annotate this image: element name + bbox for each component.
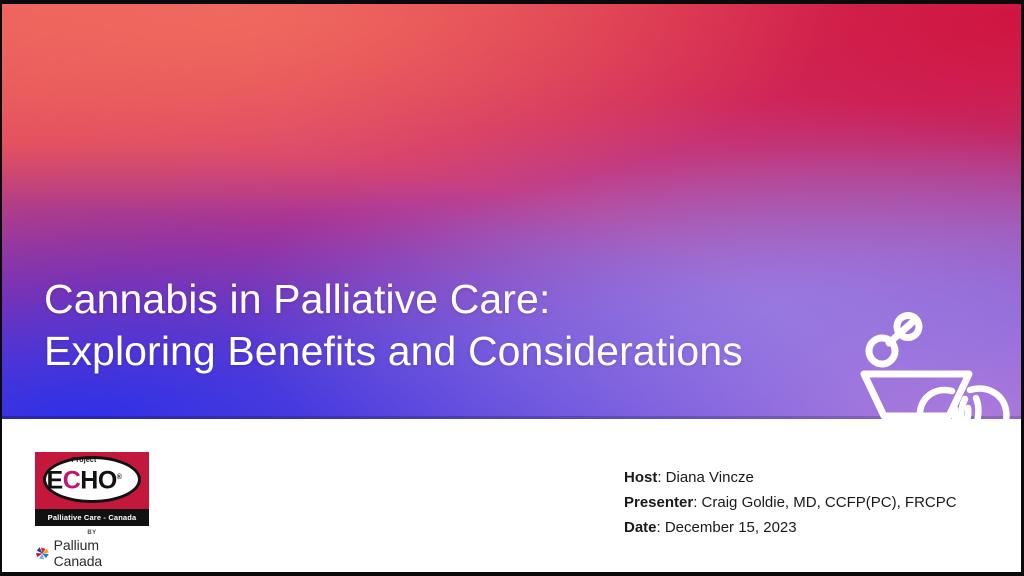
page-title: Cannabis in Palliative Care: Exploring B… bbox=[44, 273, 743, 377]
presenter-line: Presenter: Craig Goldie, MD, CCFP(PC), F… bbox=[624, 490, 957, 515]
date-line: Date: December 15, 2023 bbox=[624, 515, 957, 540]
letterbox-band-bottom bbox=[0, 572, 1024, 576]
echo-logo-program-bar: Palliative Care - Canada bbox=[35, 509, 149, 526]
session-details: Host: Diana Vincze Presenter: Craig Gold… bbox=[624, 465, 957, 540]
footer-bar: Project ECHO® Palliative Care - Canada B… bbox=[0, 419, 1024, 572]
echo-logo-by-word: BY bbox=[35, 530, 149, 536]
hero-gradient-banner: Cannabis in Palliative Care: Exploring B… bbox=[0, 4, 1024, 419]
host-value: : Diana Vincze bbox=[657, 469, 753, 486]
presenter-label: Presenter bbox=[624, 494, 693, 511]
date-label: Date bbox=[624, 519, 657, 536]
echo-logo-wordmark: ECHO® bbox=[35, 464, 133, 494]
echo-letters-ho: HO bbox=[80, 466, 117, 494]
pallium-canada-lockup: Pallium Canada bbox=[35, 537, 149, 569]
letterbox-band-left bbox=[0, 0, 2, 576]
letterbox-band-top bbox=[0, 0, 1024, 4]
registered-trademark-icon: ® bbox=[117, 474, 122, 481]
title-slide: Cannabis in Palliative Care: Exploring B… bbox=[0, 0, 1024, 576]
pallium-canada-name: Pallium Canada bbox=[54, 537, 149, 569]
date-value: : December 15, 2023 bbox=[657, 519, 797, 536]
host-label: Host bbox=[624, 469, 657, 486]
pallium-pinwheel-icon bbox=[35, 546, 50, 561]
echo-logo-project-word: Project bbox=[35, 457, 133, 464]
host-line: Host: Diana Vincze bbox=[624, 465, 957, 490]
echo-letter-c: C bbox=[63, 466, 81, 494]
mortar-and-pestle-with-leaves-icon bbox=[848, 294, 1018, 419]
presenter-value: : Craig Goldie, MD, CCFP(PC), FRCPC bbox=[693, 494, 956, 511]
echo-logo-red-block: Project ECHO® bbox=[35, 452, 149, 509]
title-line-2: Exploring Benefits and Considerations bbox=[44, 325, 743, 377]
project-echo-logo: Project ECHO® Palliative Care - Canada B… bbox=[35, 452, 149, 569]
title-line-1: Cannabis in Palliative Care: bbox=[44, 273, 743, 325]
echo-letter-e: E bbox=[47, 466, 63, 494]
